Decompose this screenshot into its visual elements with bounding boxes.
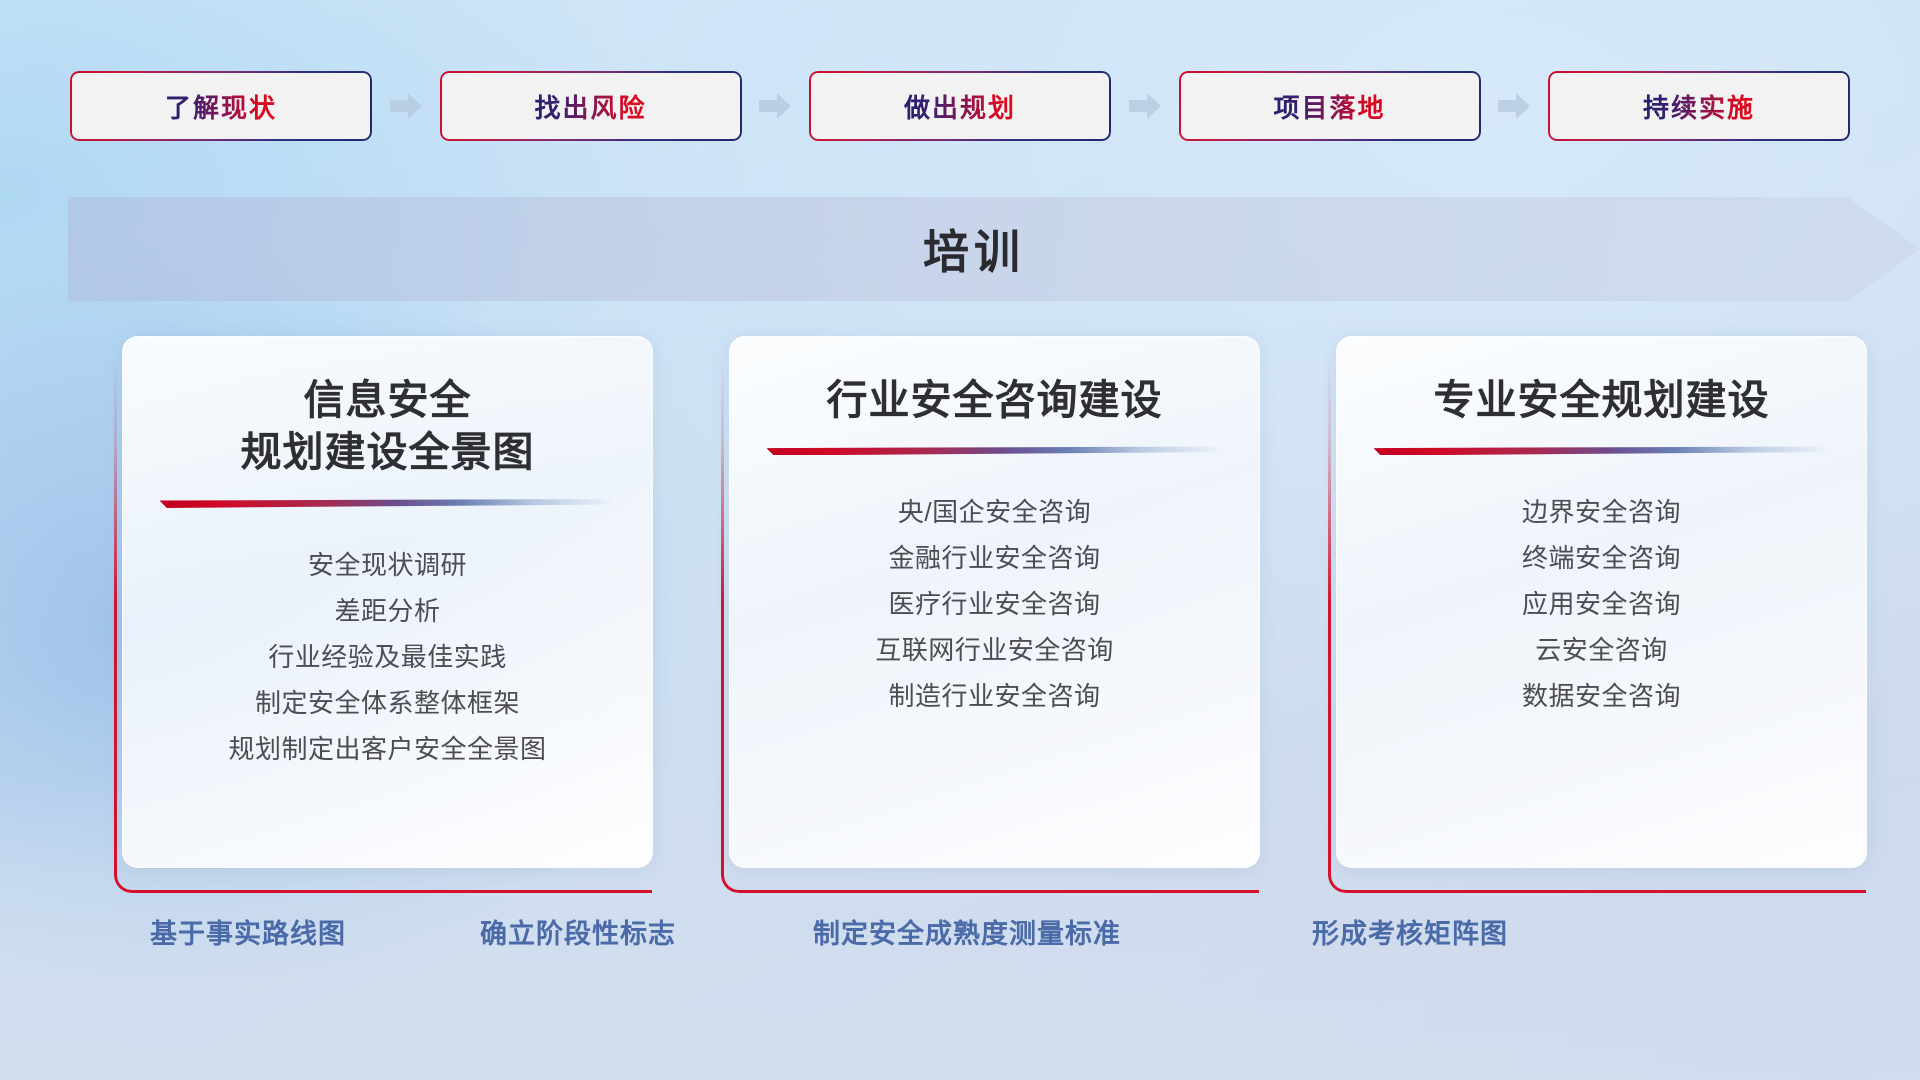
footer-caption-2: 确立阶段性标志: [480, 912, 676, 951]
process-step-label: 了解现状: [165, 88, 277, 125]
card-title: 信息安全 规划建设全景图: [241, 374, 535, 479]
process-step-1[interactable]: 了解现状: [70, 71, 372, 141]
footer-caption-4: 形成考核矩阵图: [1312, 912, 1508, 951]
footer-caption-3: 制定安全成熟度测量标准: [813, 912, 1121, 951]
process-step-label: 找出风险: [534, 88, 646, 125]
card-item-list: 边界安全咨询终端安全咨询应用安全咨询云安全咨询数据安全咨询: [1362, 455, 1841, 719]
card-item-list: 央/国企安全咨询金融行业安全咨询医疗行业安全咨询互联网行业安全咨询制造行业安全咨…: [755, 455, 1234, 719]
list-item: 制造行业安全咨询: [755, 673, 1234, 719]
list-item: 安全现状调研: [148, 542, 627, 588]
list-item: 边界安全咨询: [1362, 489, 1841, 535]
card-panel: 行业安全咨询建设央/国企安全咨询金融行业安全咨询医疗行业安全咨询互联网行业安全咨…: [729, 336, 1260, 868]
list-item: 终端安全咨询: [1362, 535, 1841, 581]
card-divider: [160, 499, 616, 508]
cards-row: 信息安全 规划建设全景图安全现状调研差距分析行业经验及最佳实践制定安全体系整体框…: [108, 336, 1868, 876]
footer-captions: 基于事实路线图确立阶段性标志制定安全成熟度测量标准形成考核矩阵图: [0, 912, 1920, 958]
list-item: 规划制定出客户安全全景图: [148, 726, 627, 772]
arrow-right-icon: [1497, 90, 1531, 122]
footer-caption-1: 基于事实路线图: [150, 912, 346, 951]
card-panel: 信息安全 规划建设全景图安全现状调研差距分析行业经验及最佳实践制定安全体系整体框…: [122, 336, 653, 868]
process-step-3[interactable]: 做出规划: [809, 71, 1111, 141]
process-step-label: 项目落地: [1273, 88, 1385, 125]
list-item: 互联网行业安全咨询: [755, 627, 1234, 673]
card-title: 行业安全咨询建设: [827, 374, 1163, 426]
process-step-label: 做出规划: [904, 88, 1016, 125]
process-step-label: 持续实施: [1643, 88, 1755, 125]
arrow-right-icon: [758, 90, 792, 122]
card-panel: 专业安全规划建设边界安全咨询终端安全咨询应用安全咨询云安全咨询数据安全咨询: [1336, 336, 1867, 868]
list-item: 央/国企安全咨询: [755, 489, 1234, 535]
arrow-right-icon: [389, 90, 423, 122]
list-item: 行业经验及最佳实践: [148, 634, 627, 680]
arrow-right-icon: [1128, 90, 1162, 122]
list-item: 应用安全咨询: [1362, 581, 1841, 627]
service-card-2[interactable]: 行业安全咨询建设央/国企安全咨询金融行业安全咨询医疗行业安全咨询互联网行业安全咨…: [715, 336, 1260, 876]
list-item: 医疗行业安全咨询: [755, 581, 1234, 627]
process-step-5[interactable]: 持续实施: [1548, 71, 1850, 141]
process-steps-row: 了解现状找出风险做出规划项目落地持续实施: [70, 70, 1850, 142]
card-divider: [1374, 446, 1830, 455]
list-item: 金融行业安全咨询: [755, 535, 1234, 581]
list-item: 数据安全咨询: [1362, 673, 1841, 719]
training-banner: 培训: [68, 197, 1920, 301]
process-step-4[interactable]: 项目落地: [1179, 71, 1481, 141]
card-item-list: 安全现状调研差距分析行业经验及最佳实践制定安全体系整体框架规划制定出客户安全全景…: [148, 508, 627, 772]
slide-canvas: 了解现状找出风险做出规划项目落地持续实施 培训 信息安全 规划建设全景图安全现状…: [0, 0, 1920, 1080]
list-item: 制定安全体系整体框架: [148, 680, 627, 726]
card-title: 专业安全规划建设: [1434, 374, 1770, 426]
process-step-2[interactable]: 找出风险: [440, 71, 742, 141]
banner-label: 培训: [68, 197, 1920, 301]
service-card-3[interactable]: 专业安全规划建设边界安全咨询终端安全咨询应用安全咨询云安全咨询数据安全咨询: [1322, 336, 1867, 876]
list-item: 差距分析: [148, 588, 627, 634]
list-item: 云安全咨询: [1362, 627, 1841, 673]
service-card-1[interactable]: 信息安全 规划建设全景图安全现状调研差距分析行业经验及最佳实践制定安全体系整体框…: [108, 336, 653, 876]
card-divider: [767, 446, 1223, 455]
